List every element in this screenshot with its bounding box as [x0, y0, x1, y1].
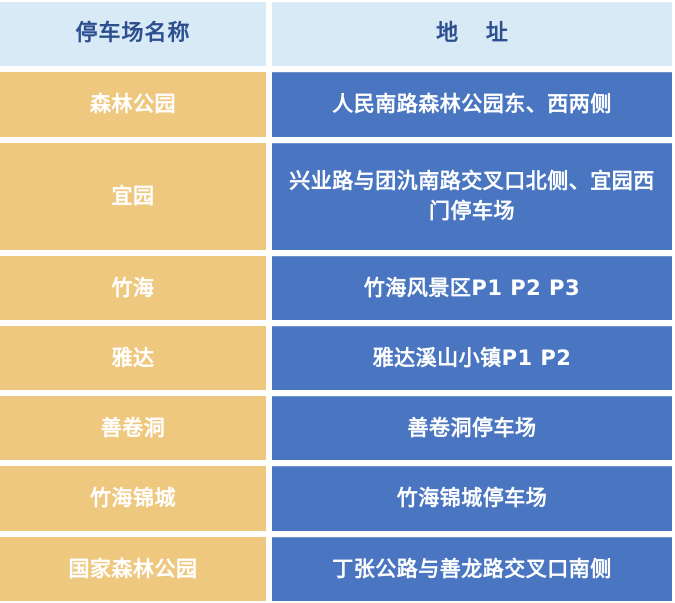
address-text: 善卷洞停车场: [398, 413, 547, 443]
cell-parking-lot-name: 竹海锦城: [0, 466, 266, 530]
table-header-row: 停车场名称 地 址: [0, 2, 672, 66]
address-text: 丁张公路与善龙路交叉口南侧: [322, 554, 622, 584]
cell-parking-lot-name: 竹海: [0, 256, 266, 320]
cell-parking-lot-name: 国家森林公园: [0, 537, 266, 601]
table-row[interactable]: 竹海锦城 竹海锦城停车场: [0, 466, 672, 530]
header-label-address: 地 址: [426, 20, 518, 48]
table-row[interactable]: 宜园 兴业路与团氿南路交叉口北侧、宜园西门停车场: [0, 143, 672, 250]
parking-lot-name-text: 森林公园: [80, 89, 186, 119]
cell-address: 善卷洞停车场: [272, 396, 672, 460]
parking-lot-name-text: 竹海锦城: [80, 483, 186, 513]
cell-address: 兴业路与团氿南路交叉口北侧、宜园西门停车场: [272, 143, 672, 250]
cell-address: 人民南路森林公园东、西两侧: [272, 72, 672, 136]
address-text: 竹海风景区P1 P2 P3: [354, 273, 590, 303]
header-label-parking-lot-name: 停车场名称: [75, 20, 190, 48]
cell-parking-lot-name: 雅达: [0, 326, 266, 390]
parking-lot-name-text: 善卷洞: [91, 413, 176, 443]
cell-address: 丁张公路与善龙路交叉口南侧: [272, 537, 672, 601]
header-cell-parking-lot-name: 停车场名称: [0, 2, 266, 66]
header-cell-address: 地 址: [272, 2, 672, 66]
address-text: 人民南路森林公园东、西两侧: [322, 89, 622, 119]
cell-parking-lot-name: 森林公园: [0, 72, 266, 136]
parking-lot-table: 停车场名称 地 址 森林公园 人民南路森林公园东、西两侧 宜园 兴业路与团氿南路…: [0, 0, 675, 603]
address-text: 兴业路与团氿南路交叉口北侧、宜园西门停车场: [272, 166, 672, 227]
table-row[interactable]: 竹海 竹海风景区P1 P2 P3: [0, 256, 672, 320]
parking-lot-table-container: 停车场名称 地 址 森林公园 人民南路森林公园东、西两侧 宜园 兴业路与团氿南路…: [0, 0, 675, 603]
table-row[interactable]: 善卷洞 善卷洞停车场: [0, 396, 672, 460]
cell-address: 雅达溪山小镇P1 P2: [272, 326, 672, 390]
address-text: 雅达溪山小镇P1 P2: [363, 343, 582, 373]
table-row[interactable]: 森林公园 人民南路森林公园东、西两侧: [0, 72, 672, 136]
parking-lot-name-text: 竹海: [102, 273, 165, 303]
parking-lot-name-text: 宜园: [102, 181, 165, 211]
cell-address: 竹海风景区P1 P2 P3: [272, 256, 672, 320]
table-row[interactable]: 雅达 雅达溪山小镇P1 P2: [0, 326, 672, 390]
parking-lot-name-text: 雅达: [102, 343, 165, 373]
cell-address: 竹海锦城停车场: [272, 466, 672, 530]
cell-parking-lot-name: 宜园: [0, 143, 266, 250]
cell-parking-lot-name: 善卷洞: [0, 396, 266, 460]
table-row[interactable]: 国家森林公园 丁张公路与善龙路交叉口南侧: [0, 537, 672, 601]
parking-lot-name-text: 国家森林公园: [59, 554, 208, 584]
address-text: 竹海锦城停车场: [387, 483, 558, 513]
